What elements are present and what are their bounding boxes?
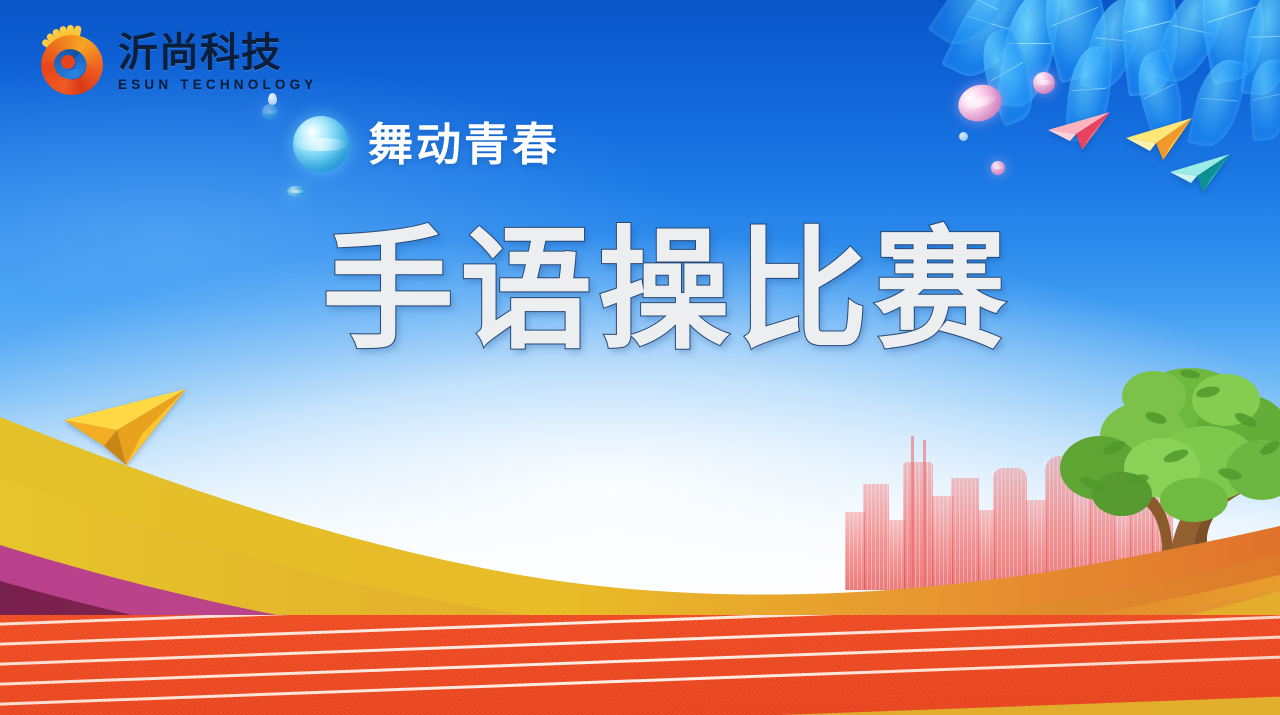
poster-subtitle: 舞动青春 (368, 122, 560, 167)
poster-main-title: 手语操比赛 (322, 222, 1012, 361)
cyan-sphere-small-icon (287, 186, 305, 197)
brand-logo[interactable]: 沂尚科技 ESUN TECHNOLOGY (28, 18, 318, 102)
running-track (0, 615, 1280, 715)
pink-sphere-small-icon (1033, 72, 1055, 94)
brand-name-cn: 沂尚科技 (118, 33, 318, 73)
paper-plane-teal-icon (1168, 152, 1232, 194)
paper-plane-pink-icon (1046, 110, 1112, 152)
cyan-sphere-corner-icon (262, 104, 278, 120)
pink-sphere-tiny-icon (991, 161, 1005, 175)
cyan-sphere-large-icon (293, 116, 349, 172)
brand-name-en: ESUN TECHNOLOGY (118, 77, 318, 92)
esun-swirl-sun-logo-icon (28, 19, 114, 101)
blue-dot-tiny-icon (959, 132, 968, 141)
poster-canvas: 沂尚科技 ESUN TECHNOLOGY 舞动青春 手语操比赛 (0, 0, 1280, 715)
